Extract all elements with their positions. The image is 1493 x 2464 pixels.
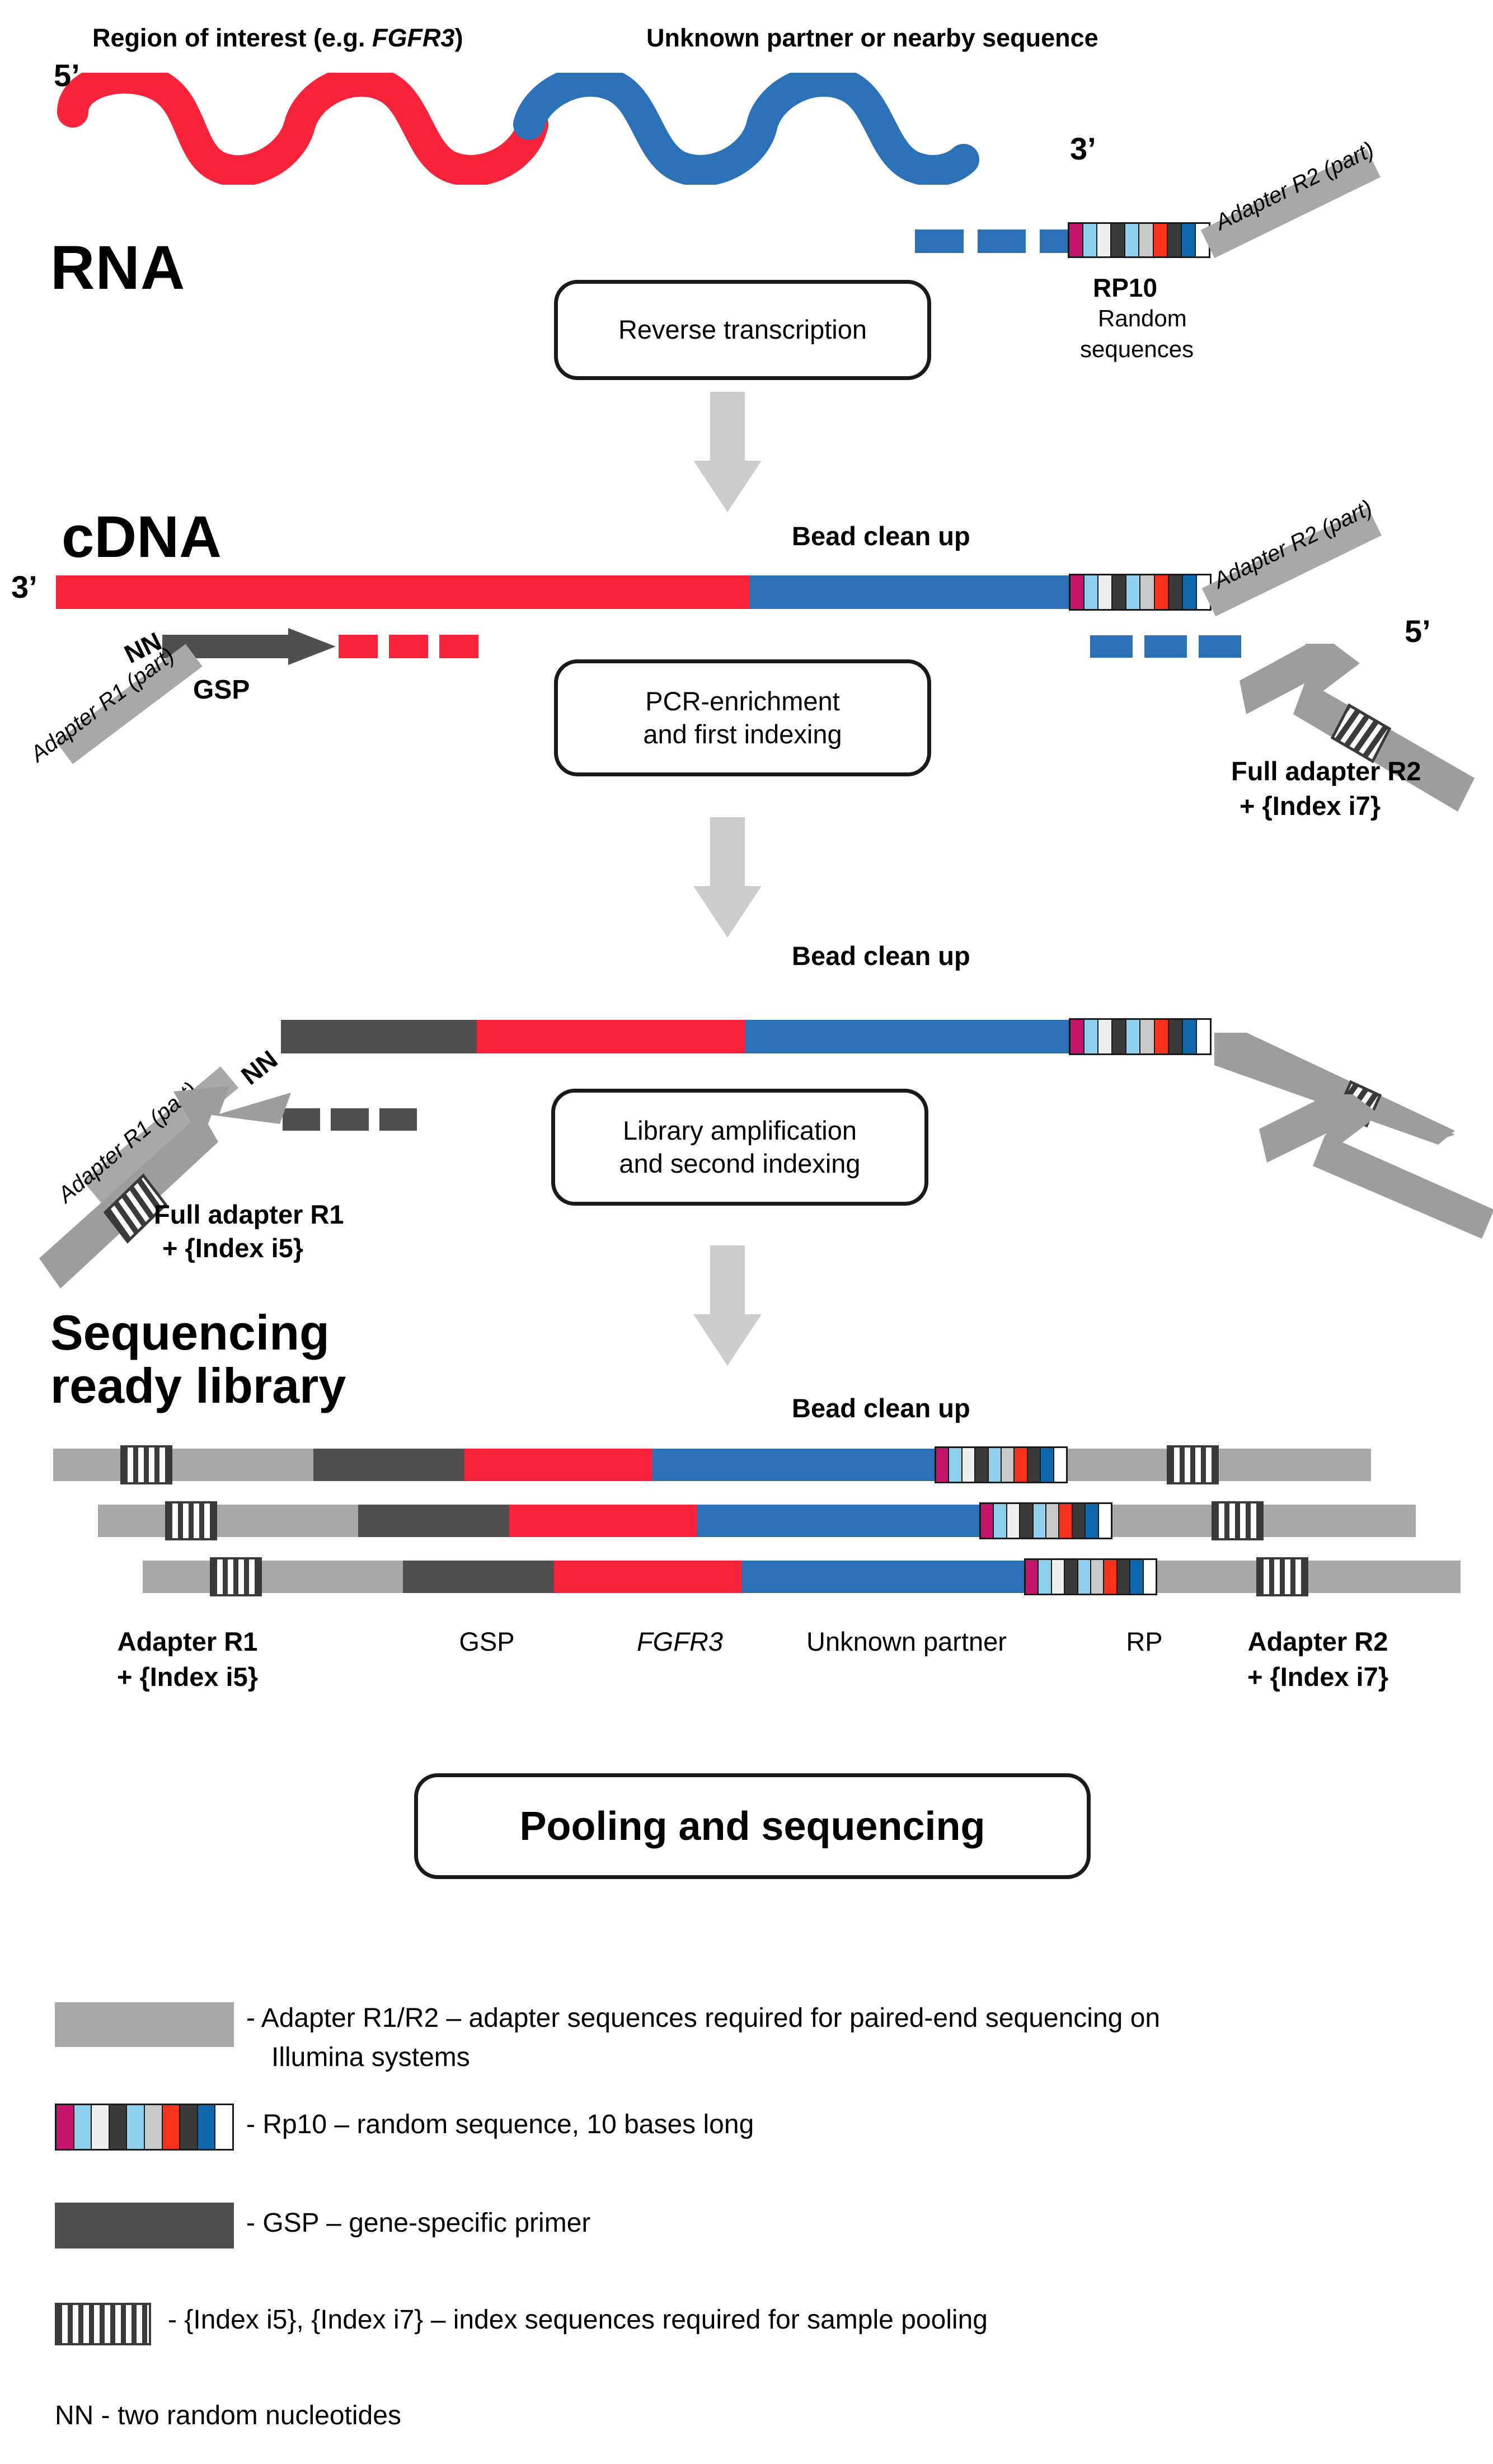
rna-five-prime-label: 5’ [54,57,80,93]
full-adapter-r2-line1: Full adapter R2 [1231,756,1421,786]
index-i5-block-3 [210,1557,262,1596]
full-adapter-r1-line1: Full adapter R1 [154,1199,344,1230]
process-box-reverse-transcription-label: Reverse transcription [618,313,867,346]
legend-index-line1: - {Index i5}, {Index i7} – index sequenc… [168,2304,988,2335]
process-box-pcr-enrichment[interactable]: PCR-enrichment and first indexing [554,659,931,776]
library-annotation-rp: RP [1097,1626,1192,1657]
stage-label-library-line2: ready library [50,1357,346,1414]
full-adapter-r2-arrow-amp [1259,1094,1493,1240]
process-box-pcr-line2: and first indexing [643,718,842,751]
process-box-library-amplification[interactable]: Library amplification and second indexin… [551,1089,928,1206]
flow-arrow-3 [691,1245,764,1366]
library-annotation-adapter-r1-line1: Adapter R1 [98,1626,277,1657]
gsp-gray-swatch [55,2203,234,2248]
library-annotation-adapter-r2-line2: + {Index i7} [1226,1661,1410,1692]
rp10-swatch [55,2104,234,2151]
process-box-lib-line2: and second indexing [619,1147,860,1181]
process-box-pooling[interactable]: Pooling and sequencing [414,1773,1091,1879]
label-unknown-partner: Unknown partner or nearby sequence [646,24,1098,53]
rp10-block-rna [1068,222,1210,258]
stage-label-cdna: cDNA [62,504,222,571]
index-hatch-swatch [55,2303,151,2345]
library-annotation-adapter-r2-line1: Adapter R2 [1226,1626,1410,1657]
label-region-of-interest: Region of interest (e.g. FGFR3) Region o… [92,24,463,53]
library-annotation-unknown-partner-line1: Unknown partner [755,1626,1058,1657]
bead-clean-up-2: Bead clean up [792,940,970,971]
library-bar-3 [143,1561,1461,1593]
flow-arrow-2 [691,817,764,938]
process-box-pcr-line1: PCR-enrichment [645,685,839,718]
flow-arrow-1 [691,392,764,512]
library-annotation-fgfr3: FGFR3 [610,1626,750,1657]
process-box-reverse-transcription[interactable]: Reverse transcription [554,280,931,380]
legend-gsp-line1: - GSP – gene-specific primer [246,2208,590,2238]
adapter-gray-swatch [55,2002,234,2047]
r2-primer-dashes-cdna [1090,635,1241,658]
legend-nn-note: NN - two random nucleotides [55,2400,401,2431]
index-i7-block-2 [1212,1501,1264,1540]
legend-adapter-line1: - Adapter R1/R2 – adapter sequences requ… [246,2003,1160,2034]
gsp-extension-dashes [339,635,478,658]
library-annotation-gsp: GSP [431,1626,543,1657]
library-annotation-adapter-r1: Adapter R1 + {Index i5} [98,1626,277,1692]
rp10-sub-line2: sequences [1080,336,1194,363]
amplified-strand [281,1020,1212,1053]
cdna-strand [56,575,1212,609]
stage-label-rna: RNA [50,232,185,303]
library-bar-1 [53,1449,1371,1481]
process-box-lib-line1: Library amplification [623,1114,857,1147]
library-annotation-adapter-r2: Adapter R2 + {Index i7} [1226,1626,1410,1692]
adapter-r1-part-label-cdna: Adapter R1 (part) [26,643,179,767]
library-annotation-fgfr3-line1: FGFR3 [610,1626,750,1657]
rp10-primer-dashes [915,229,1088,253]
legend-rp10-line1: - Rp10 – random sequence, 10 bases long [246,2109,754,2140]
gsp-label-cdna: GSP [193,674,250,705]
library-annotation-rp-line1: RP [1097,1626,1192,1657]
index-i7-block-3 [1256,1557,1308,1596]
stage-label-library-line1: Sequencing [50,1304,330,1361]
bead-clean-up-1: Bead clean up [792,521,970,551]
cdna-three-prime-label: 3’ [11,569,37,605]
rp10-label: RP10 [1093,273,1157,303]
full-adapter-r2-line2: + {Index i7} [1240,790,1381,821]
full-adapter-r1-line2: + {Index i5} [162,1233,303,1263]
library-annotation-gsp-line1: GSP [431,1626,543,1657]
library-annotation-adapter-r1-line2: + {Index i5} [98,1661,277,1692]
index-i5-block-2 [165,1501,217,1540]
rna-wave [50,73,1069,185]
index-i5-block-1 [120,1445,172,1484]
rp10-sub-line1: Random [1098,305,1187,332]
legend-adapter-line2: Illumina systems [271,2042,470,2073]
library-annotation-unknown-partner: Unknown partner [755,1626,1058,1657]
library-bar-2 [98,1505,1416,1537]
rna-three-prime-label: 3’ [1070,130,1096,167]
process-box-pooling-label: Pooling and sequencing [519,1801,985,1852]
bead-clean-up-3: Bead clean up [792,1393,970,1423]
index-i7-block-1 [1167,1445,1219,1484]
gsp-dashes-amp [283,1108,417,1131]
